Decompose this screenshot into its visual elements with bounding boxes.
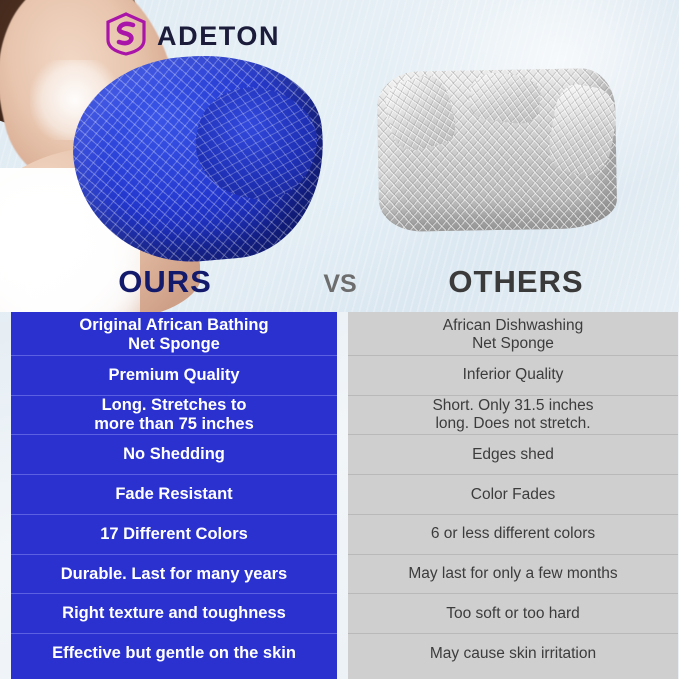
brand-name: ADETON (157, 21, 280, 52)
list-item: Color Fades (348, 475, 678, 515)
ours-feature-column: Original African BathingNet Sponge Premi… (11, 312, 337, 679)
comparison-tables: Original African BathingNet Sponge Premi… (0, 312, 679, 679)
product-comparison-infographic: ADETON OURS VS OTHERS Original African B… (0, 0, 679, 679)
list-item: African DishwashingNet Sponge (348, 316, 678, 356)
stylized-s-monogram-icon (104, 12, 148, 61)
list-item: Long. Stretches tomore than 75 inches (11, 396, 337, 436)
list-item: Short. Only 31.5 incheslong. Does not st… (348, 396, 678, 436)
list-item: Original African BathingNet Sponge (11, 316, 337, 356)
list-item: May last for only a few months (348, 555, 678, 595)
list-item: May cause skin irritation (348, 634, 678, 673)
list-item: Inferior Quality (348, 356, 678, 396)
ours-heading: OURS (0, 264, 330, 306)
list-item: Premium Quality (11, 356, 337, 396)
list-item: Edges shed (348, 435, 678, 475)
list-item: Durable. Last for many years (11, 555, 337, 595)
list-item: Fade Resistant (11, 475, 337, 515)
others-feature-column: African DishwashingNet Sponge Inferior Q… (348, 312, 678, 679)
list-item: Right texture and toughness (11, 594, 337, 634)
others-heading: OTHERS (352, 264, 679, 306)
list-item: Effective but gentle on the skin (11, 634, 337, 673)
list-item: 17 Different Colors (11, 515, 337, 555)
list-item: 6 or less different colors (348, 515, 678, 555)
list-item: Too soft or too hard (348, 594, 678, 634)
list-item: No Shedding (11, 435, 337, 475)
brand-logo: ADETON (104, 12, 280, 61)
